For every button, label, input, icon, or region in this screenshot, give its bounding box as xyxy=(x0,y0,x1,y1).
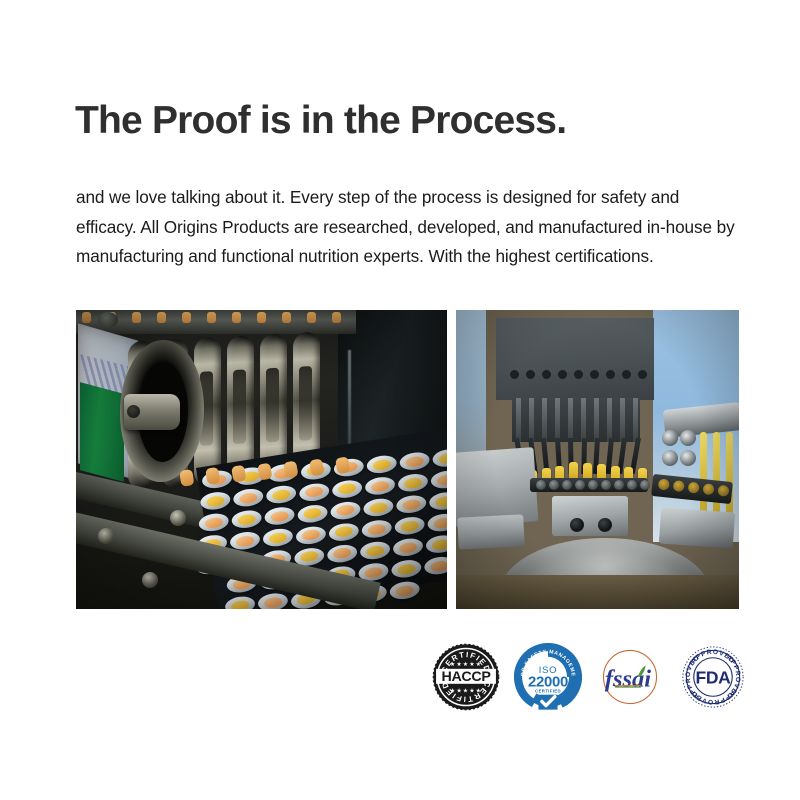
intro-paragraph: and we love talking about it. Every step… xyxy=(76,183,744,272)
haccp-stars-top: ★★★★★ xyxy=(450,661,482,668)
photo-capsule-filling-machine xyxy=(456,310,739,609)
fssai-badge-icon: fssai xyxy=(596,643,664,711)
page-title: The Proof is in the Process. xyxy=(75,100,566,143)
haccp-label: HACCP xyxy=(441,669,491,685)
photo-gallery xyxy=(76,310,739,609)
certification-badges: CERTIFIED CERTIFIED ★★★★★ ★★★★★ HACCP xyxy=(432,639,744,715)
fda-badge-icon: · APPROVED · · APPROVED · APPROVED APPRO… xyxy=(678,642,748,712)
page-root: The Proof is in the Process. and we love… xyxy=(0,0,800,800)
haccp-badge-icon: CERTIFIED CERTIFIED ★★★★★ ★★★★★ HACCP xyxy=(432,643,500,711)
photo-left-vignette xyxy=(76,310,447,609)
iso-sub: CERTIFIED xyxy=(535,688,561,693)
haccp-stars-bottom: ★★★★★ xyxy=(450,688,482,695)
iso-22000-badge-icon: FOOD SAFETY MANAGEMENT ISO 22000 CERTIFI… xyxy=(514,643,582,711)
fda-label: FDA xyxy=(696,667,732,687)
photo-right-vignette xyxy=(456,310,739,609)
photo-blister-packing-machine xyxy=(76,310,447,609)
